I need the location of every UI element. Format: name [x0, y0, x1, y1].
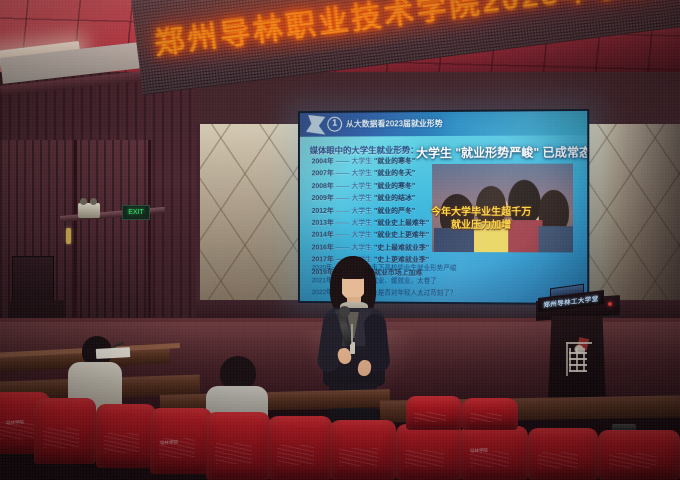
list-year: 2016年	[312, 244, 334, 251]
list-dash: ——	[336, 232, 350, 239]
door-center-seam	[74, 140, 77, 320]
list-dash: ——	[336, 220, 350, 227]
podium-emblem-detail	[569, 348, 587, 372]
list-quote: "就业的寒冬"	[374, 158, 415, 165]
caption-line-1: 今年大学毕业生超千万	[426, 207, 536, 220]
list-item: 2008年 —— 大学生 "就业的寒冬"	[312, 181, 450, 191]
auditorium-seat[interactable]	[96, 404, 156, 468]
auditorium-seat[interactable]	[406, 396, 462, 430]
audience-head	[220, 356, 256, 390]
list-year: 2009年	[312, 195, 334, 202]
list-quote: "就业的冬天"	[374, 170, 415, 177]
list-year: 2014年	[312, 232, 334, 239]
list-label: 大学生	[351, 183, 372, 190]
caption-line-2: 就业压力加增	[426, 219, 536, 232]
list-year: 2013年	[312, 220, 334, 227]
auditorium-seat[interactable]	[330, 420, 396, 480]
list-year: 2012年	[312, 208, 334, 215]
list-item: 2016年 —— 大学生 "史上最难就业季"	[312, 242, 450, 252]
list-dash: ——	[336, 208, 350, 215]
auditorium-seat[interactable]	[34, 398, 96, 464]
list-label: 大学生	[351, 220, 372, 227]
list-dash: ——	[336, 244, 350, 251]
podium-indicator-led	[608, 302, 612, 306]
slide-left-title: 媒体眼中的大学生就业形势：	[310, 144, 419, 156]
list-quote: "就业史上最难年"	[374, 220, 429, 227]
auditorium-seat[interactable]	[396, 424, 462, 480]
slide-section-number: 1	[327, 117, 342, 132]
list-label: 大学生	[351, 158, 372, 165]
exit-sign-label: EXIT	[128, 209, 144, 216]
list-dash: ——	[336, 158, 350, 165]
slide-photo-caption: 今年大学毕业生超千万 就业压力加增	[426, 207, 536, 232]
list-label: 大学生	[351, 171, 372, 178]
panel-edge-divider	[196, 124, 200, 320]
list-label: 大学生	[351, 208, 372, 215]
list-year: 2007年	[312, 171, 334, 178]
list-label: 大学生	[351, 244, 372, 251]
seat-label: 导林学院	[160, 440, 178, 447]
photo-person-body	[538, 226, 573, 252]
list-quote: "就业的严冬"	[374, 208, 415, 215]
auditorium-seat[interactable]	[268, 416, 332, 480]
seat-label: 导林学院	[6, 420, 24, 427]
list-item: 2009年 —— 大学生 "就业的结冰"	[312, 193, 450, 203]
auditorium-seat[interactable]	[206, 412, 270, 480]
list-dash: ——	[336, 183, 350, 190]
list-quote: "史上最难就业季"	[374, 245, 429, 252]
list-quote: "就业的结冰"	[374, 195, 415, 202]
list-dash: ——	[336, 171, 350, 178]
notebook	[96, 347, 130, 359]
door-handle[interactable]	[66, 228, 71, 244]
auditorium-seat[interactable]	[598, 430, 680, 480]
list-dash: ——	[336, 195, 350, 202]
list-quote: "就业的寒冬"	[374, 183, 415, 190]
list-item: 2007年 —— 大学生 "就业的冬天"	[312, 168, 450, 178]
list-year: 2008年	[312, 183, 334, 190]
list-quote: "就业史上更难年"	[374, 232, 429, 239]
auditorium-seat[interactable]	[528, 428, 598, 480]
slide-headline: 大学生 "就业形势严峻" 已成常态	[416, 143, 589, 161]
list-year: 2004年	[312, 158, 334, 165]
emergency-light-icon	[78, 203, 100, 218]
slide-section-title: 从大数据看2023届就业形势	[346, 118, 443, 130]
list-label: 大学生	[351, 232, 372, 239]
auditorium-photo: EXIT 1 从大数据看2023届就业形势 媒体眼中的大学生就业形势： 2004…	[0, 0, 680, 480]
presenter-hair-left	[331, 268, 342, 308]
auditorium-seat[interactable]	[462, 398, 518, 430]
slide-section-badge: 1 从大数据看2023届就业形势	[327, 116, 442, 132]
list-label: 大学生	[351, 195, 372, 202]
exit-sign: EXIT	[122, 205, 150, 220]
seat-label: 导林学院	[470, 448, 488, 455]
